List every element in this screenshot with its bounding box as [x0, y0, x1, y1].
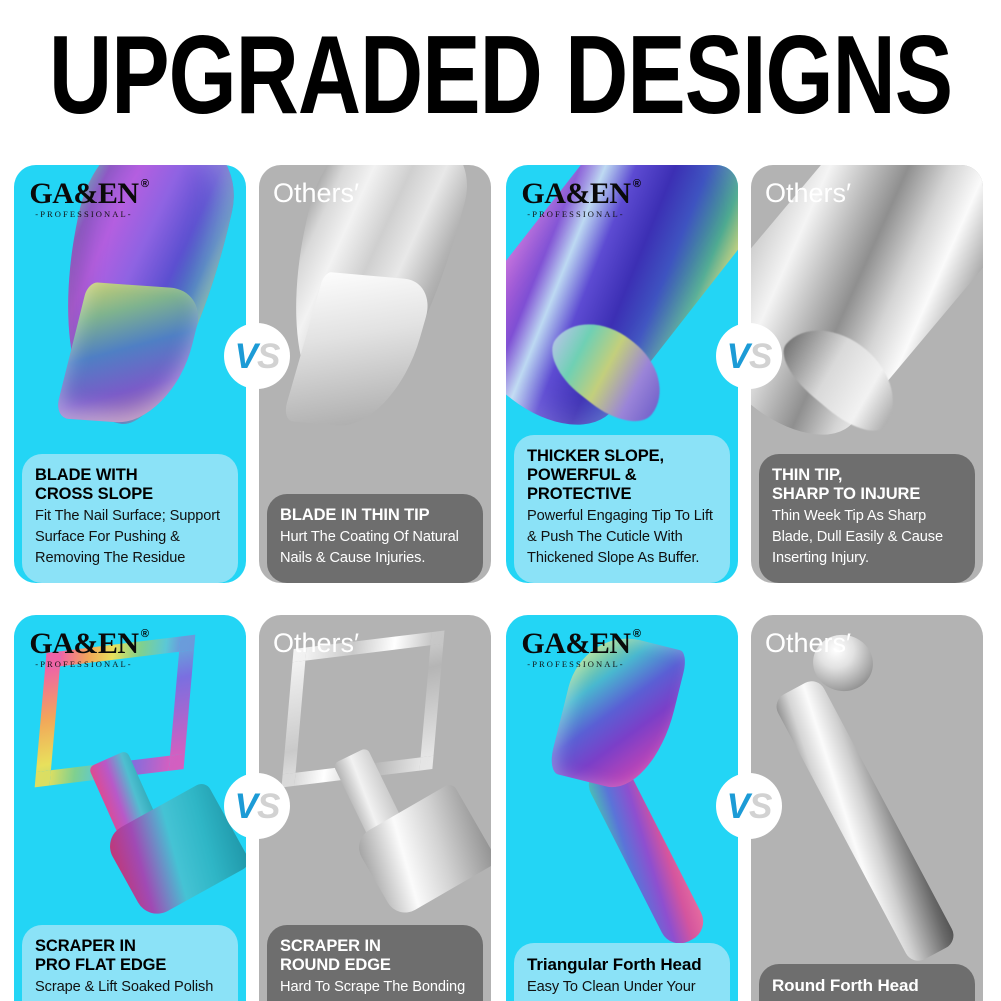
others-label-2: Others′ — [765, 179, 851, 209]
others-card-1[interactable]: Others′ BLADE IN THIN TIP Hurt The Coati… — [259, 165, 491, 583]
others-heading-4: Round Forth Head — [772, 976, 962, 996]
vs-s-letter: S — [257, 789, 279, 824]
brand-text-panel-3: SCRAPER INPRO FLAT EDGE Scrape & Lift So… — [22, 925, 238, 1001]
brand-heading-2: THICKER SLOPE,POWERFUL & PROTECTIVE — [527, 447, 717, 504]
others-text-panel-1: BLADE IN THIN TIP Hurt The Coating Of Na… — [267, 494, 483, 583]
brand-tagline: -PROFESSIONAL- — [28, 660, 140, 669]
brand-tagline: -PROFESSIONAL- — [520, 210, 632, 219]
vs-v-letter: V — [727, 789, 749, 824]
brand-text-panel-2: THICKER SLOPE,POWERFUL & PROTECTIVE Powe… — [514, 435, 730, 583]
brand-card-4[interactable]: GA&EN® -PROFESSIONAL- Triangular Forth H… — [506, 615, 738, 1001]
brand-body-1: Fit The Nail Surface; Support Surface Fo… — [35, 506, 225, 569]
brand-heading-4: Triangular Forth Head — [527, 955, 717, 975]
forth-head-stem-shape — [772, 676, 959, 965]
others-card-2[interactable]: Others′ THIN TIP,SHARP TO INJURE Thin We… — [751, 165, 983, 583]
others-heading-3: SCRAPER INROUND EDGE — [280, 937, 470, 975]
brand-heading-1: BLADE WITHCROSS SLOPE — [35, 466, 225, 504]
brand-name: GA&EN — [521, 179, 630, 209]
vs-s-letter: S — [749, 789, 771, 824]
others-heading-2: THIN TIP,SHARP TO INJURE — [772, 466, 962, 504]
title-banner: UPGRADED DESIGNS — [0, 0, 1001, 150]
brand-body-4: Easy To Clean Under Your nails With Ergo… — [527, 977, 717, 1001]
vs-v-letter: V — [235, 789, 257, 824]
others-heading-1: BLADE IN THIN TIP — [280, 506, 470, 525]
brand-logo: GA&EN® -PROFESSIONAL- — [28, 179, 140, 219]
brand-body-3: Scrape & Lift Soaked Polish And Residue … — [35, 977, 225, 1001]
others-text-panel-3: SCRAPER INROUND EDGE Hard To Scrape The … — [267, 925, 483, 1001]
comparison-block-4: GA&EN® -PROFESSIONAL- Triangular Forth H… — [506, 615, 992, 1001]
registered-trademark-icon: ® — [633, 179, 641, 190]
vs-badge-3: VS — [224, 773, 290, 839]
others-text-panel-2: THIN TIP,SHARP TO INJURE Thin Week Tip A… — [759, 454, 975, 583]
others-label-1: Others′ — [273, 179, 359, 209]
vs-s-letter: S — [749, 339, 771, 374]
infographic-page: UPGRADED DESIGNS GA&EN® -PROFESSIONAL- B… — [0, 0, 1001, 1001]
brand-tagline: -PROFESSIONAL- — [28, 210, 140, 219]
page-title: UPGRADED DESIGNS — [49, 20, 952, 131]
others-body-2: Thin Week Tip As Sharp Blade, Dull Easil… — [772, 506, 962, 569]
vs-v-letter: V — [235, 339, 257, 374]
comparison-grid: GA&EN® -PROFESSIONAL- BLADE WITHCROSS SL… — [0, 150, 1001, 1001]
product-photo-steel-round-forth-head — [751, 615, 983, 1001]
brand-logo: GA&EN® -PROFESSIONAL- — [520, 179, 632, 219]
brand-name: GA&EN — [29, 629, 138, 659]
others-card-4[interactable]: Others′ Round Forth Head Useless — [751, 615, 983, 1001]
brand-tagline: -PROFESSIONAL- — [520, 660, 632, 669]
brand-text-panel-4: Triangular Forth Head Easy To Clean Unde… — [514, 943, 730, 1001]
vs-v-letter: V — [727, 339, 749, 374]
others-body-3: Hard To Scrape The Bonding Polish Or Res… — [280, 977, 470, 1001]
vs-badge-2: VS — [716, 323, 782, 389]
brand-card-1[interactable]: GA&EN® -PROFESSIONAL- BLADE WITHCROSS SL… — [14, 165, 246, 583]
vs-badge-4: VS — [716, 773, 782, 839]
others-card-3[interactable]: Others′ SCRAPER INROUND EDGE Hard To Scr… — [259, 615, 491, 1001]
brand-body-2: Powerful Engaging Tip To Lift & Push The… — [527, 506, 717, 569]
vs-s-letter: S — [257, 339, 279, 374]
brand-card-3[interactable]: GA&EN® -PROFESSIONAL- SCRAPER INPRO FLAT… — [14, 615, 246, 1001]
brand-text-panel-1: BLADE WITHCROSS SLOPE Fit The Nail Surfa… — [22, 454, 238, 583]
others-body-1: Hurt The Coating Of Natural Nails & Caus… — [280, 527, 470, 569]
others-label-3: Others′ — [273, 629, 359, 659]
registered-trademark-icon: ® — [141, 179, 149, 190]
registered-trademark-icon: ® — [633, 629, 641, 640]
others-text-panel-4: Round Forth Head Useless — [759, 964, 975, 1001]
brand-heading-3: SCRAPER INPRO FLAT EDGE — [35, 937, 225, 975]
brand-card-2[interactable]: GA&EN® -PROFESSIONAL- THICKER SLOPE,POWE… — [506, 165, 738, 583]
comparison-block-2: GA&EN® -PROFESSIONAL- THICKER SLOPE,POWE… — [506, 165, 992, 583]
brand-name: GA&EN — [521, 629, 630, 659]
vs-badge-1: VS — [224, 323, 290, 389]
brand-logo: GA&EN® -PROFESSIONAL- — [28, 629, 140, 669]
brand-name: GA&EN — [29, 179, 138, 209]
brand-logo: GA&EN® -PROFESSIONAL- — [520, 629, 632, 669]
others-label-4: Others′ — [765, 629, 851, 659]
comparison-block-1: GA&EN® -PROFESSIONAL- BLADE WITHCROSS SL… — [14, 165, 500, 583]
registered-trademark-icon: ® — [141, 629, 149, 640]
comparison-block-3: GA&EN® -PROFESSIONAL- SCRAPER INPRO FLAT… — [14, 615, 500, 1001]
